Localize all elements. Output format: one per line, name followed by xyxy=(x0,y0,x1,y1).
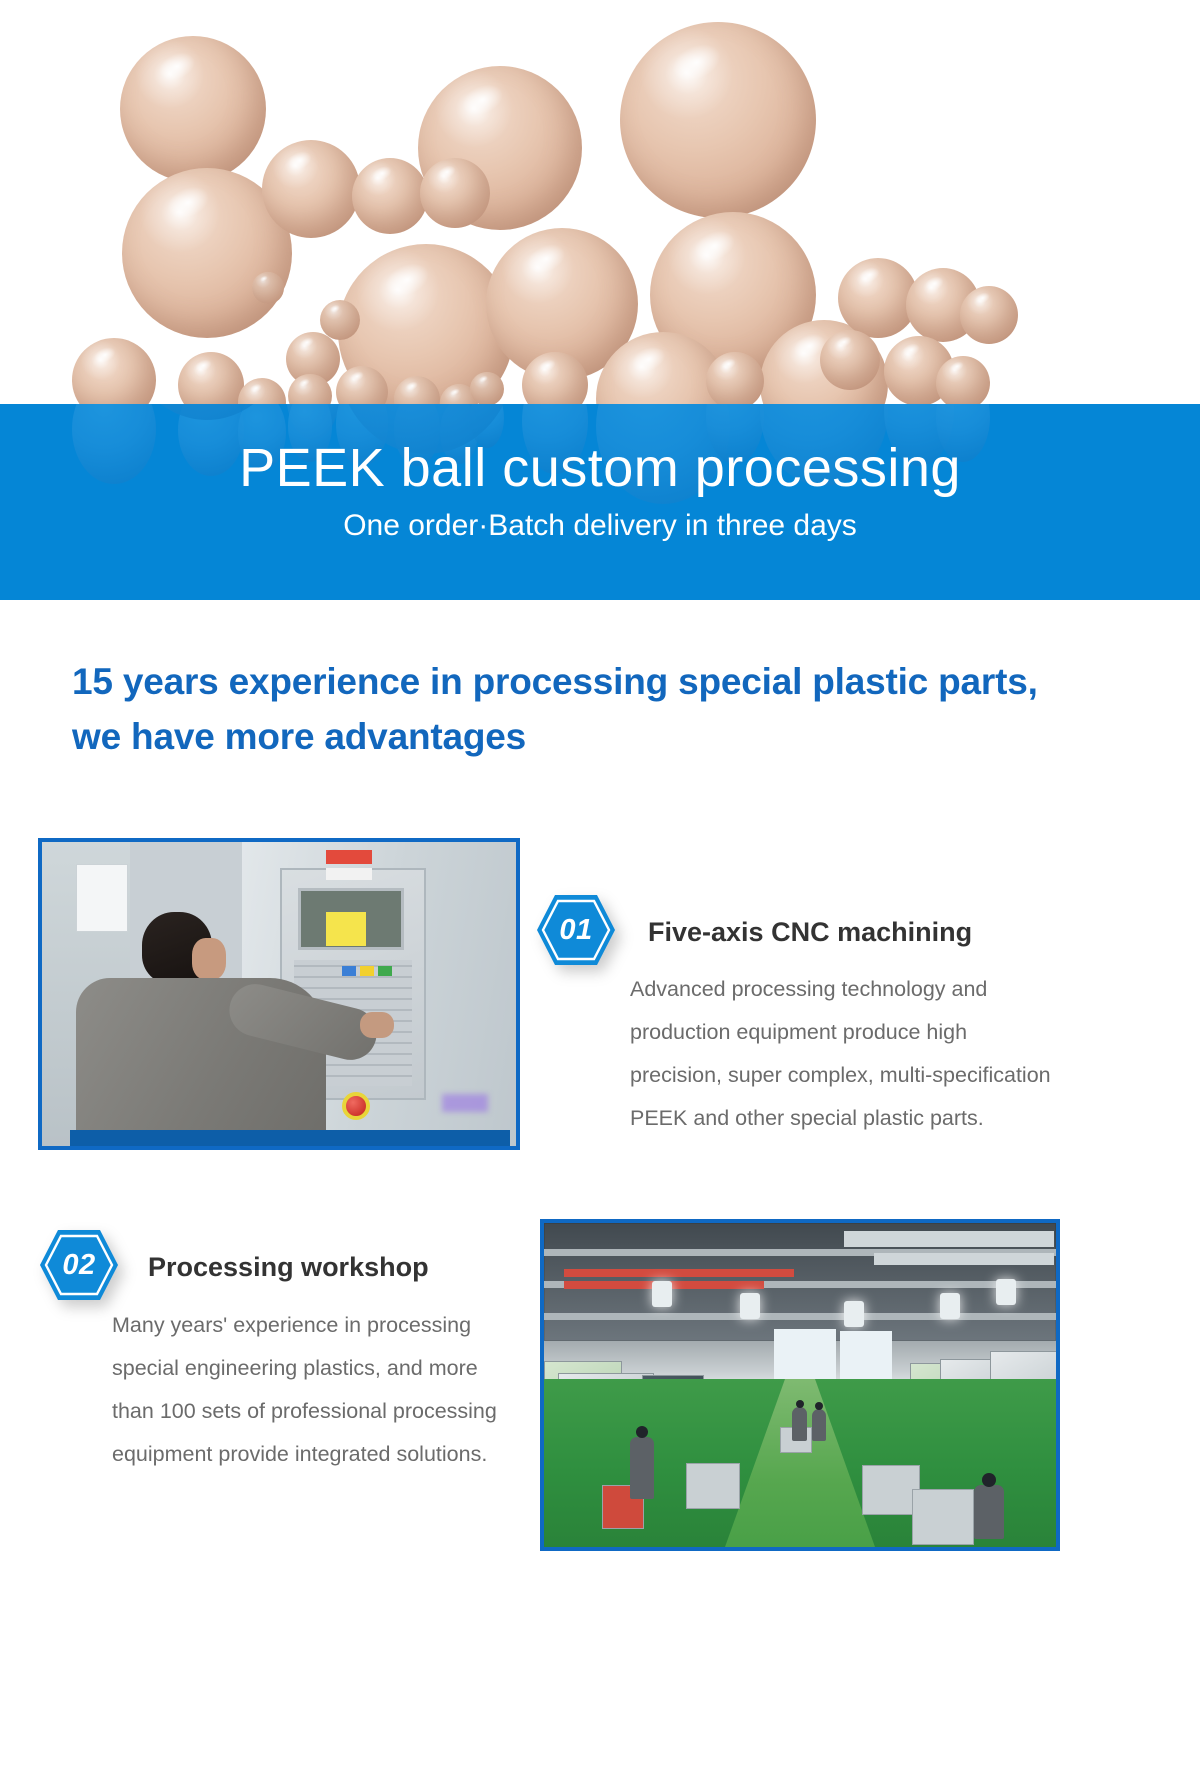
hero-banner: PEEK ball custom processing One order·Ba… xyxy=(0,404,1200,600)
feature-badge-02: 02 xyxy=(38,1228,120,1302)
section-headline: 15 years experience in processing specia… xyxy=(72,655,1052,765)
feature-badge-01: 01 xyxy=(535,893,617,967)
feature-title-01: Five-axis CNC machining xyxy=(648,917,972,948)
feature-body-01: Advanced processing technology and produ… xyxy=(630,968,1062,1140)
cnc-photo-illustration xyxy=(42,842,516,1146)
feature-title-02: Processing workshop xyxy=(148,1252,429,1283)
feature-body-02: Many years' experience in processing spe… xyxy=(112,1304,512,1476)
workshop-photo-illustration xyxy=(544,1223,1056,1547)
banner-title: PEEK ball custom processing xyxy=(0,440,1200,497)
banner-subtitle: One order·Batch delivery in three days xyxy=(0,509,1200,542)
product-detail-page: PEEK ball custom processing One order·Ba… xyxy=(0,0,1200,1767)
feature-number-01: 01 xyxy=(535,893,617,967)
workshop-photo xyxy=(540,1219,1060,1551)
feature-number-02: 02 xyxy=(38,1228,120,1302)
cnc-machine-photo xyxy=(38,838,520,1150)
hero-section: PEEK ball custom processing One order·Ba… xyxy=(0,0,1200,668)
